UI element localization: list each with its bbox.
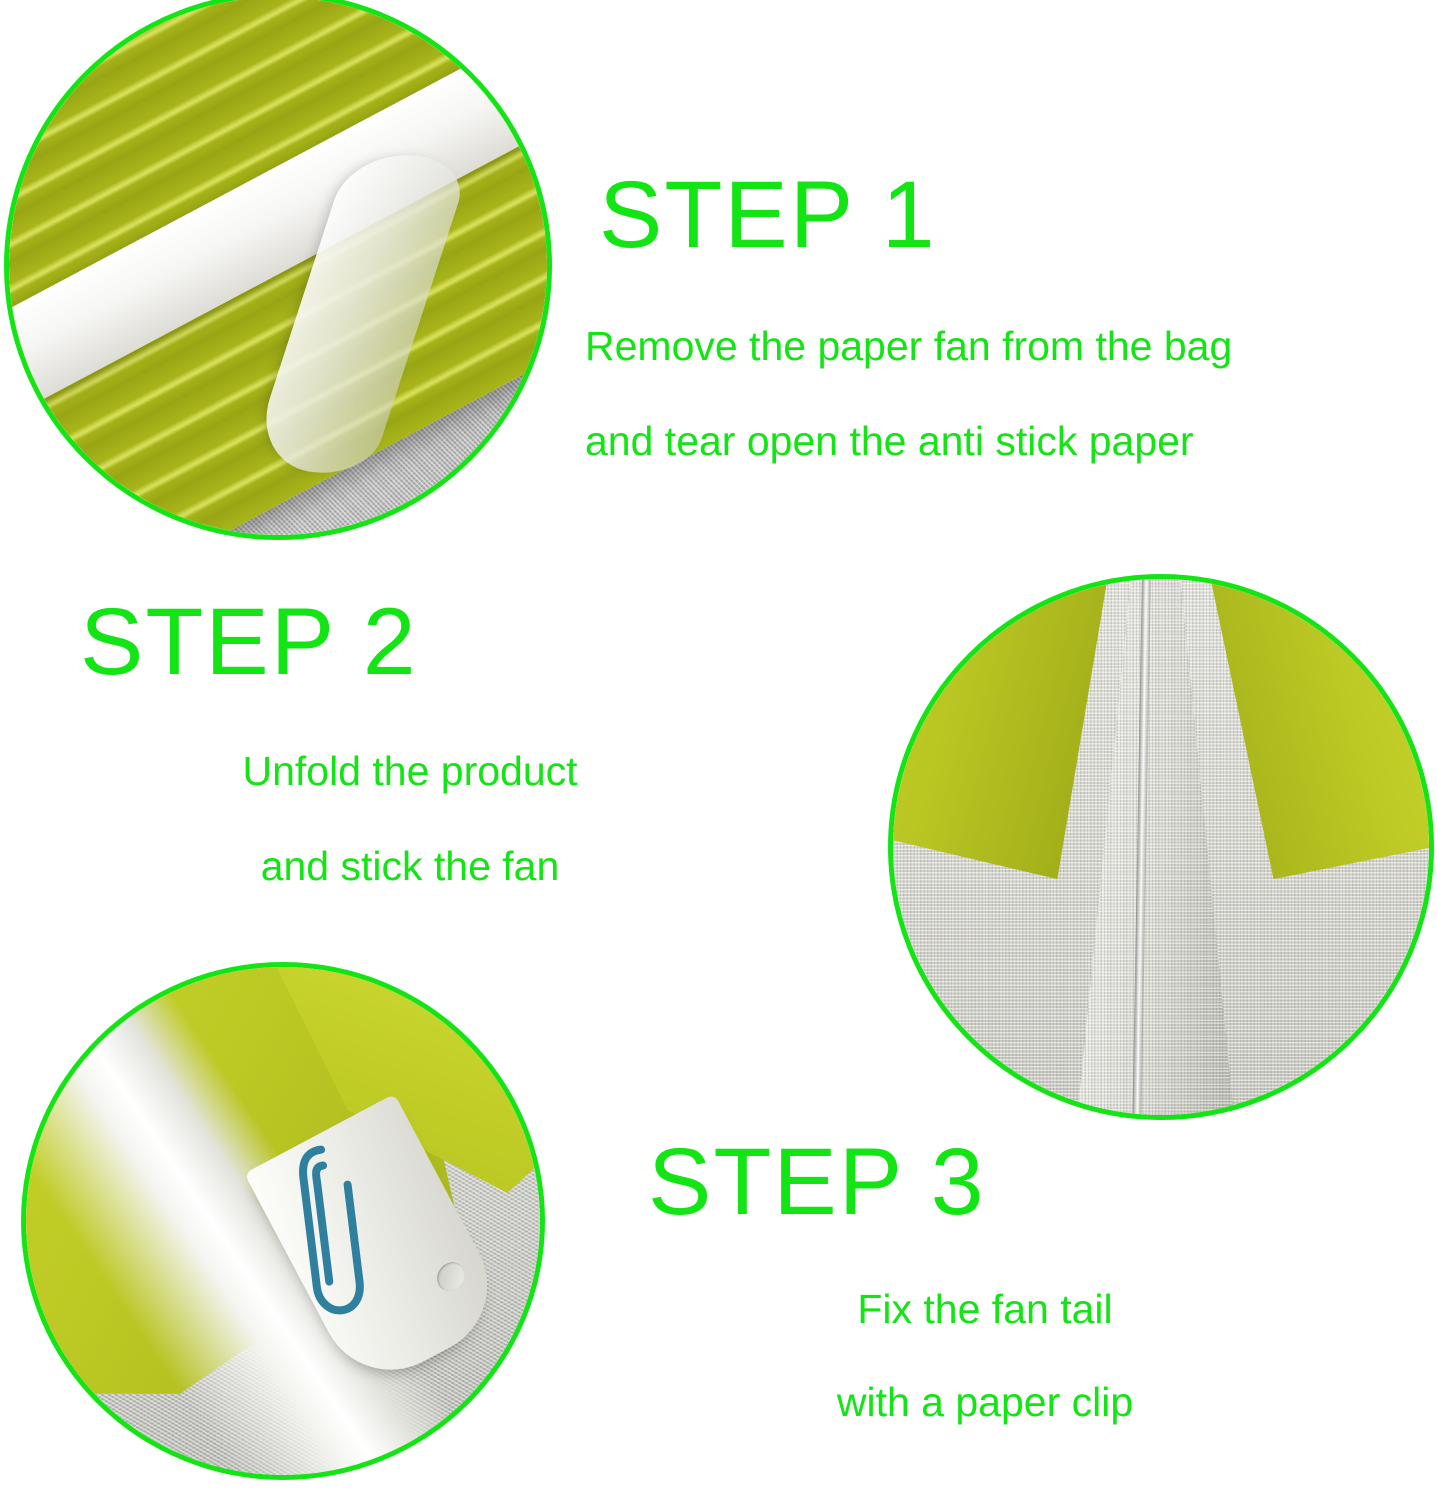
- step2-instruction-line-1: Unfold the product: [60, 750, 760, 793]
- step1-photo-inner: [9, 0, 547, 535]
- step2-title: STEP 2: [60, 595, 760, 690]
- step3-text-block: STEP 3 Fix the fan tail with a paper cli…: [640, 1135, 1330, 1474]
- step1-instruction-line-2: and tear open the anti stick paper: [585, 420, 1232, 463]
- step1-instruction-line-1: Remove the paper fan from the bag: [585, 325, 1232, 368]
- step3-instruction-line-2: with a paper clip: [640, 1381, 1330, 1424]
- step3-photo-circle: [21, 962, 545, 1480]
- step2-photo-circle: [888, 574, 1434, 1120]
- step2-instruction-line-2: and stick the fan: [60, 845, 760, 888]
- step3-photo-inner: [26, 967, 540, 1475]
- step1-photo-circle: [4, 0, 552, 540]
- step3-instruction-line-1: Fix the fan tail: [640, 1288, 1330, 1331]
- step1-text-block: STEP 1 Remove the paper fan from the bag…: [585, 168, 1232, 515]
- fan-tail-hole: [432, 1257, 470, 1296]
- step1-title: STEP 1: [599, 168, 1232, 263]
- step2-photo-inner: [893, 579, 1429, 1115]
- step3-title: STEP 3: [640, 1135, 1330, 1230]
- step2-text-block: STEP 2 Unfold the product and stick the …: [60, 595, 760, 940]
